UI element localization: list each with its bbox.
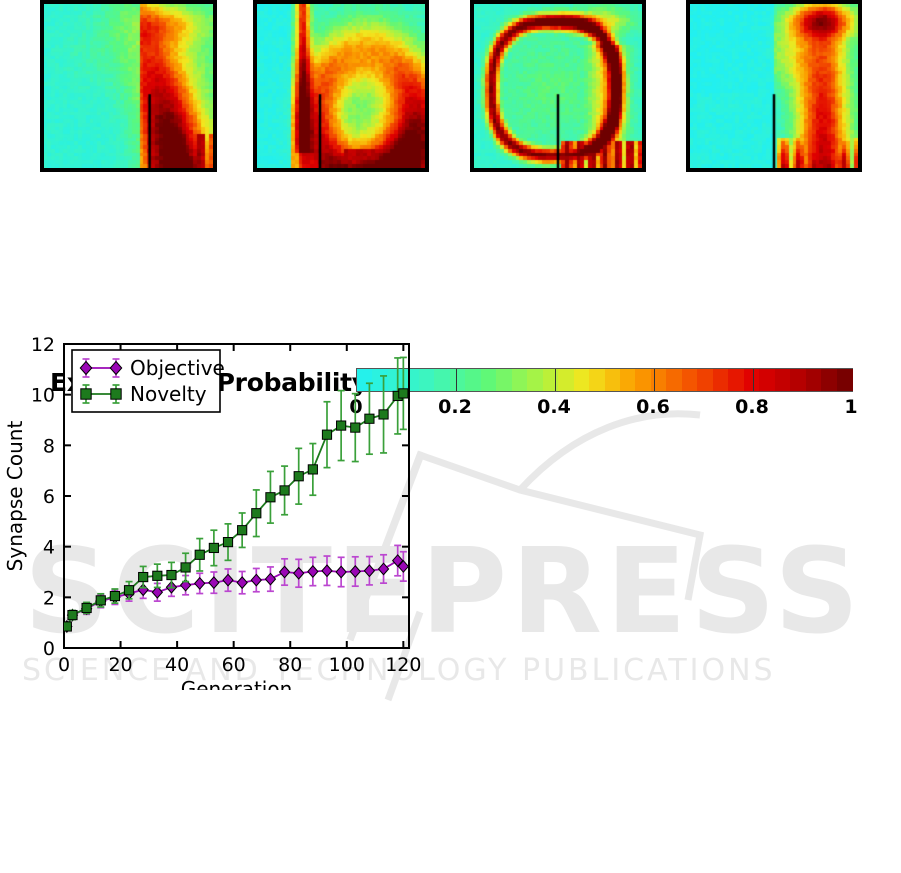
data-point	[294, 472, 303, 481]
data-point	[181, 563, 190, 572]
colorbar-segment	[666, 369, 682, 391]
data-point	[280, 486, 289, 495]
colorbar-segment	[821, 369, 837, 391]
data-point	[322, 430, 331, 439]
data-point	[351, 423, 360, 432]
data-point	[124, 586, 133, 595]
data-point	[139, 572, 148, 581]
y-axis-title: Synapse Count	[3, 421, 27, 572]
x-tick-label: 80	[278, 654, 302, 676]
heatmap-panel-1	[40, 0, 217, 172]
colorbar-segment	[450, 369, 466, 391]
y-tick-label: 4	[43, 537, 55, 559]
data-point	[153, 571, 162, 580]
colorbar-segment	[759, 369, 775, 391]
colorbar-tick	[654, 369, 655, 391]
colorbar-segment	[605, 369, 621, 391]
colorbar-segment	[837, 369, 853, 391]
data-point	[223, 574, 233, 586]
colorbar-tick-label: 1	[844, 396, 857, 418]
colorbar-segment	[790, 369, 806, 391]
colorbar-segment	[543, 369, 559, 391]
colorbar-segment	[713, 369, 729, 391]
data-point	[364, 565, 374, 577]
colorbar-segment	[527, 369, 543, 391]
x-tick-label: 120	[385, 654, 421, 676]
data-point	[223, 538, 232, 547]
data-point	[336, 566, 346, 578]
legend-label: Novelty	[130, 382, 207, 406]
data-point	[167, 570, 176, 579]
data-point	[350, 566, 360, 578]
colorbar-segment	[620, 369, 636, 391]
watermark-arc-icon	[520, 414, 700, 490]
legend-label: Objective	[130, 356, 225, 380]
heatmap-panel-3	[470, 0, 646, 172]
colorbar-segment	[775, 369, 791, 391]
colorbar-segment	[512, 369, 528, 391]
colorbar-tick	[555, 369, 556, 391]
data-point	[308, 566, 318, 578]
heatmap-canvas	[257, 4, 425, 168]
colorbar-segment	[574, 369, 590, 391]
colorbar-row: Exploration Probability 00.20.40.60.81	[0, 178, 901, 248]
data-point	[308, 465, 317, 474]
heatmap-panel-row	[0, 0, 901, 175]
data-point	[251, 574, 261, 586]
colorbar-tick	[753, 369, 754, 391]
heatmap-canvas	[44, 4, 213, 168]
data-point	[195, 550, 204, 559]
heatmap-canvas	[690, 4, 858, 168]
x-axis-title: Generation	[181, 677, 293, 690]
x-tick-label: 60	[222, 654, 246, 676]
x-tick-label: 100	[329, 654, 365, 676]
colorbar-segment	[682, 369, 698, 391]
colorbar-segment	[806, 369, 822, 391]
data-point	[399, 389, 408, 398]
colorbar-segment	[465, 369, 481, 391]
data-point	[81, 389, 91, 399]
data-point	[294, 568, 304, 580]
y-tick-label: 6	[43, 486, 55, 508]
data-point	[252, 509, 261, 518]
y-tick-label: 10	[31, 385, 55, 407]
data-point	[379, 410, 388, 419]
colorbar-segment	[728, 369, 744, 391]
data-point	[237, 577, 247, 589]
data-point	[209, 543, 218, 552]
data-point	[195, 578, 205, 590]
data-point	[337, 421, 346, 430]
y-tick-label: 2	[43, 587, 55, 609]
colorbar-segment	[481, 369, 497, 391]
x-tick-label: 0	[58, 654, 70, 676]
chart-svg: 024681012020406080100120GenerationSynaps…	[0, 320, 440, 690]
y-tick-label: 12	[31, 334, 55, 356]
data-point	[266, 493, 275, 502]
heatmap-panel-4	[686, 0, 862, 172]
data-point	[265, 573, 275, 585]
colorbar-segment	[697, 369, 713, 391]
data-point	[378, 563, 388, 575]
y-tick-label: 8	[43, 435, 55, 457]
data-point	[82, 603, 91, 612]
x-tick-label: 40	[165, 654, 189, 676]
colorbar-tick-label: 0.4	[537, 396, 571, 418]
colorbar-segment	[589, 369, 605, 391]
data-point	[110, 591, 119, 600]
y-tick-label: 0	[43, 638, 55, 660]
colorbar-segment	[496, 369, 512, 391]
data-point	[238, 526, 247, 535]
data-point	[68, 610, 77, 619]
heatmap-canvas	[474, 4, 642, 168]
synapse-count-chart: 024681012020406080100120GenerationSynaps…	[0, 320, 440, 690]
colorbar-segment	[635, 369, 651, 391]
colorbar-tick-label: 0.2	[438, 396, 472, 418]
heatmap-panel-2	[253, 0, 429, 172]
x-tick-label: 20	[108, 654, 132, 676]
data-point	[209, 577, 219, 589]
data-point	[96, 596, 105, 605]
colorbar-segment	[558, 369, 574, 391]
data-point	[280, 566, 290, 578]
colorbar-tick-label: 0.6	[636, 396, 670, 418]
data-point	[322, 565, 332, 577]
data-point	[111, 389, 121, 399]
colorbar-tick-label: 0.8	[735, 396, 769, 418]
colorbar-segment	[744, 369, 760, 391]
data-point	[365, 414, 374, 423]
colorbar-tick	[456, 369, 457, 391]
